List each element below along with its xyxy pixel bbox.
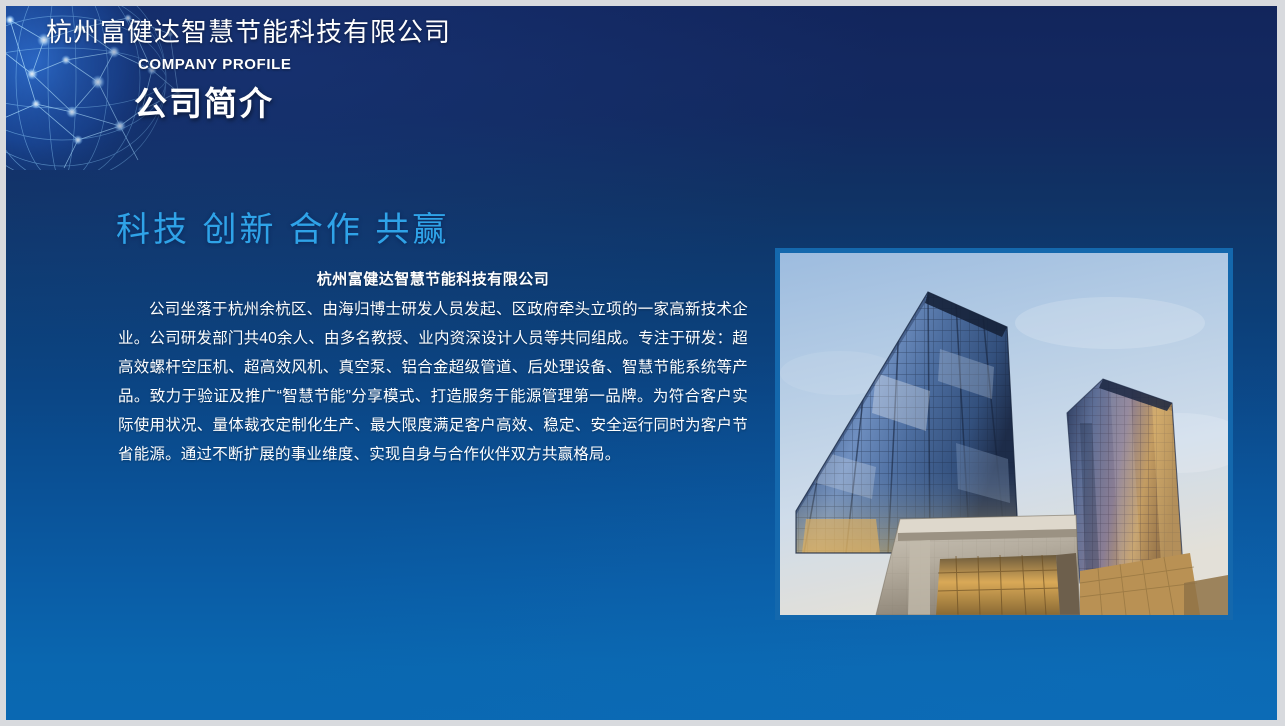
slide-canvas: 杭州富健达智慧节能科技有限公司 COMPANY PROFILE 公司简介 科技 … (6, 6, 1277, 720)
company-name-heading: 杭州富健达智慧节能科技有限公司 (46, 18, 451, 48)
glass-skyscrapers-photo (780, 253, 1228, 615)
content-title: 杭州富健达智慧节能科技有限公司 (118, 268, 748, 289)
content-paragraph: 公司坐落于杭州余杭区、由海归博士研发人员发起、区政府牵头立项的一家高新技术企业。… (118, 295, 748, 469)
header-block: 杭州富健达智慧节能科技有限公司 COMPANY PROFILE 公司简介 (46, 18, 451, 125)
content-block: 杭州富健达智慧节能科技有限公司 公司坐落于杭州余杭区、由海归博士研发人员发起、区… (118, 268, 748, 469)
slogan-text: 科技 创新 合作 共赢 (116, 202, 449, 251)
section-label-english: COMPANY PROFILE (138, 56, 451, 73)
photo-frame (775, 248, 1233, 620)
page-title: 公司简介 (134, 77, 451, 125)
